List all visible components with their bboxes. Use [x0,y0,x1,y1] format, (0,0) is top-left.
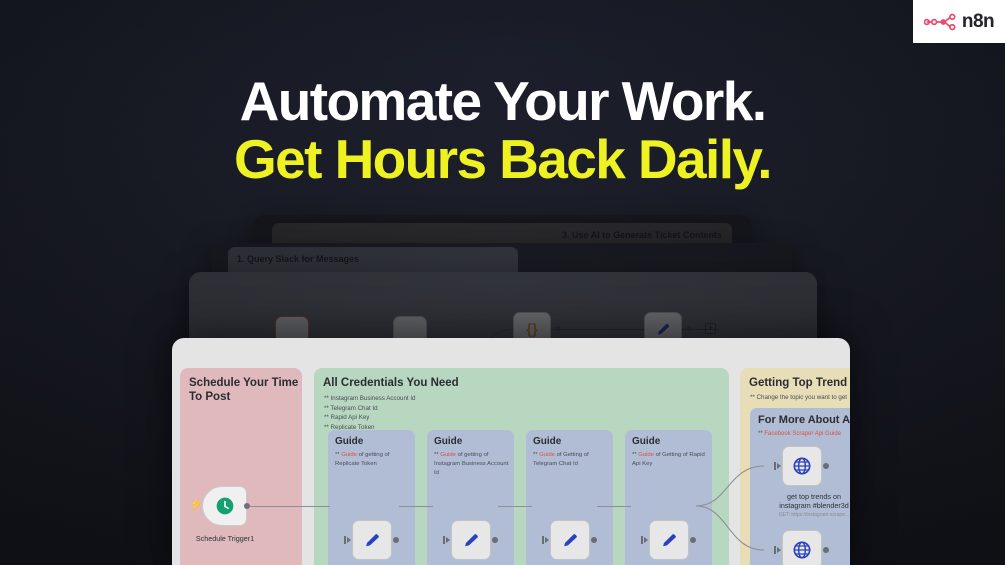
n8n-nodes-logo-icon [924,12,958,32]
workflow-canvas[interactable]: Schedule Your Time To Post All Credentia… [172,338,850,565]
pencil-icon [655,321,672,338]
clock-icon [215,496,235,516]
sticky-note-title: 3. Use AI to Generate Ticket Contents [562,230,722,240]
schedule-trigger-node[interactable] [202,486,247,526]
foreground-workflow-card: Schedule Your Time To Post All Credentia… [172,338,850,565]
n8n-logo-badge[interactable]: n8n [913,0,1005,43]
hero-headline: Automate Your Work. Get Hours Back Daily… [0,72,1005,188]
add-node-button[interactable]: + [705,323,716,334]
connector-curves [172,338,850,565]
sticky-note-title: 1. Query Slack for Messages [237,254,359,264]
n8n-wordmark: n8n [962,12,994,31]
headline-line-1: Automate Your Work. [0,72,1005,130]
headline-line-2: Get Hours Back Daily. [0,130,1005,188]
promo-canvas: 3. Use AI to Generate Ticket Contents Us… [0,0,1005,565]
code-braces-icon: {} [526,322,538,337]
node-label: Schedule Trigger1 [177,534,273,543]
lightning-bolt-icon: ⚡ [189,500,203,511]
